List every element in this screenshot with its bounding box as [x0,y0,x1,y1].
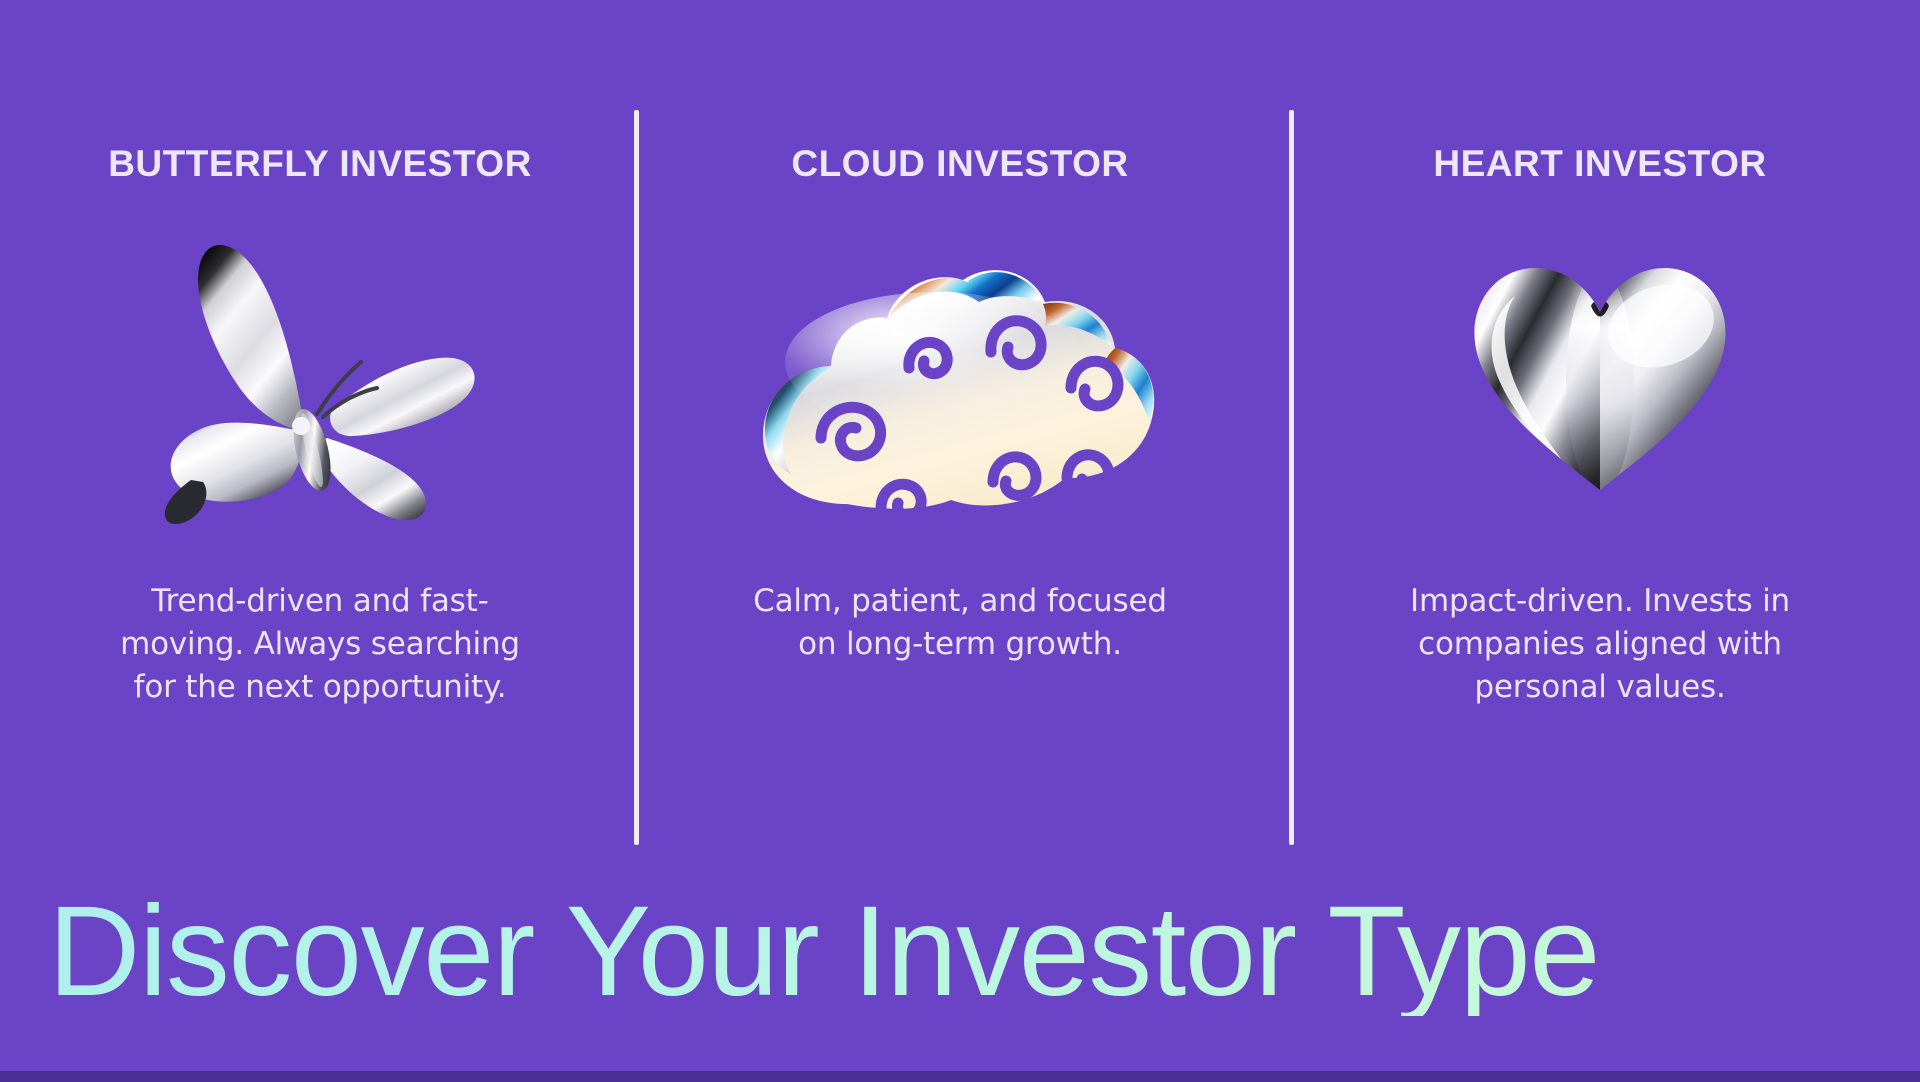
investor-card-description: Trend-driven and fast-moving. Always sea… [105,580,535,708]
cloud-icon-wrap [755,212,1165,542]
investor-card-description: Impact-driven. Invests in companies alig… [1385,580,1815,708]
investor-type-columns: BUTTERFLY INVESTOR [0,0,1920,870]
butterfly-icon-wrap [155,212,485,542]
column-divider-2 [1289,110,1294,845]
chrome-cloud-icon [755,242,1165,512]
investor-card-heading: HEART INVESTOR [1433,145,1766,182]
investor-card-heading: BUTTERFLY INVESTOR [108,145,532,182]
investor-card-description: Calm, patient, and focused on long-term … [745,580,1175,666]
investor-card-butterfly: BUTTERFLY INVESTOR [0,0,640,870]
investor-card-heading: CLOUD INVESTOR [791,145,1128,182]
infographic-canvas: BUTTERFLY INVESTOR [0,0,1920,1082]
bottom-accent-strip [0,1071,1920,1082]
heart-icon-wrap [1465,212,1735,542]
column-divider-1 [634,110,639,845]
investor-card-cloud: CLOUD INVESTOR [640,0,1280,870]
page-title: Discover Your Investor Type [48,888,1599,1016]
chrome-butterfly-icon [155,222,485,532]
investor-card-heart: HEART INVESTOR [1280,0,1920,870]
chrome-heart-icon [1465,252,1735,502]
